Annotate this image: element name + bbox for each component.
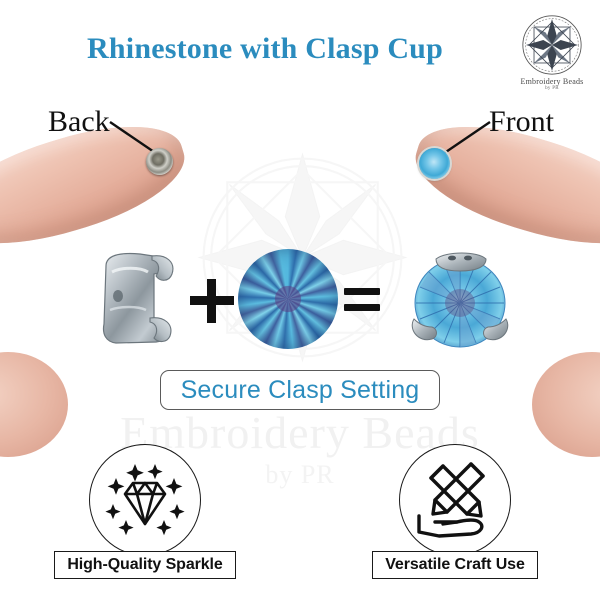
page-title: Rhinestone with Clasp Cup <box>40 32 490 66</box>
aquamarine-rhinestone-photo <box>238 249 338 349</box>
logo-brand-name: Embroidery Beads <box>516 77 588 86</box>
badge-label: Secure Clasp Setting <box>181 376 420 405</box>
feature-versatile-craft-use: Versatile Craft Use <box>350 444 560 579</box>
hand-holding-craft-tools-icon <box>409 454 501 546</box>
callout-label-front: Front <box>489 105 554 139</box>
rhinestone-front-photo <box>419 148 450 179</box>
fingertip-bottom-right-photo <box>532 352 600 457</box>
product-infographic: Embroidery Beads by PR Rhinestone with C… <box>0 0 600 600</box>
status-badge: Secure Clasp Setting <box>160 370 440 410</box>
star-medallion-logo-icon <box>521 14 583 76</box>
rhinestone-back-photo <box>146 148 173 175</box>
fingertip-bottom-left-photo <box>0 352 68 457</box>
assembled-product-photo <box>406 243 514 353</box>
plus-operator-icon <box>190 279 234 323</box>
logo-tagline: by PR <box>516 86 588 91</box>
silver-clasp-cup-photo <box>96 248 178 348</box>
feature-label-right: Versatile Craft Use <box>372 551 538 579</box>
equals-operator-icon <box>344 288 380 311</box>
diamond-sparkle-icon <box>99 454 191 546</box>
feature-high-quality-sparkle: High-Quality Sparkle <box>40 444 250 579</box>
feature-icon-circle-left <box>89 444 201 556</box>
brand-logo: Embroidery Beads by PR <box>516 14 588 91</box>
feature-label-left: High-Quality Sparkle <box>54 551 235 579</box>
feature-icon-circle-right <box>399 444 511 556</box>
callout-label-back: Back <box>48 105 110 139</box>
